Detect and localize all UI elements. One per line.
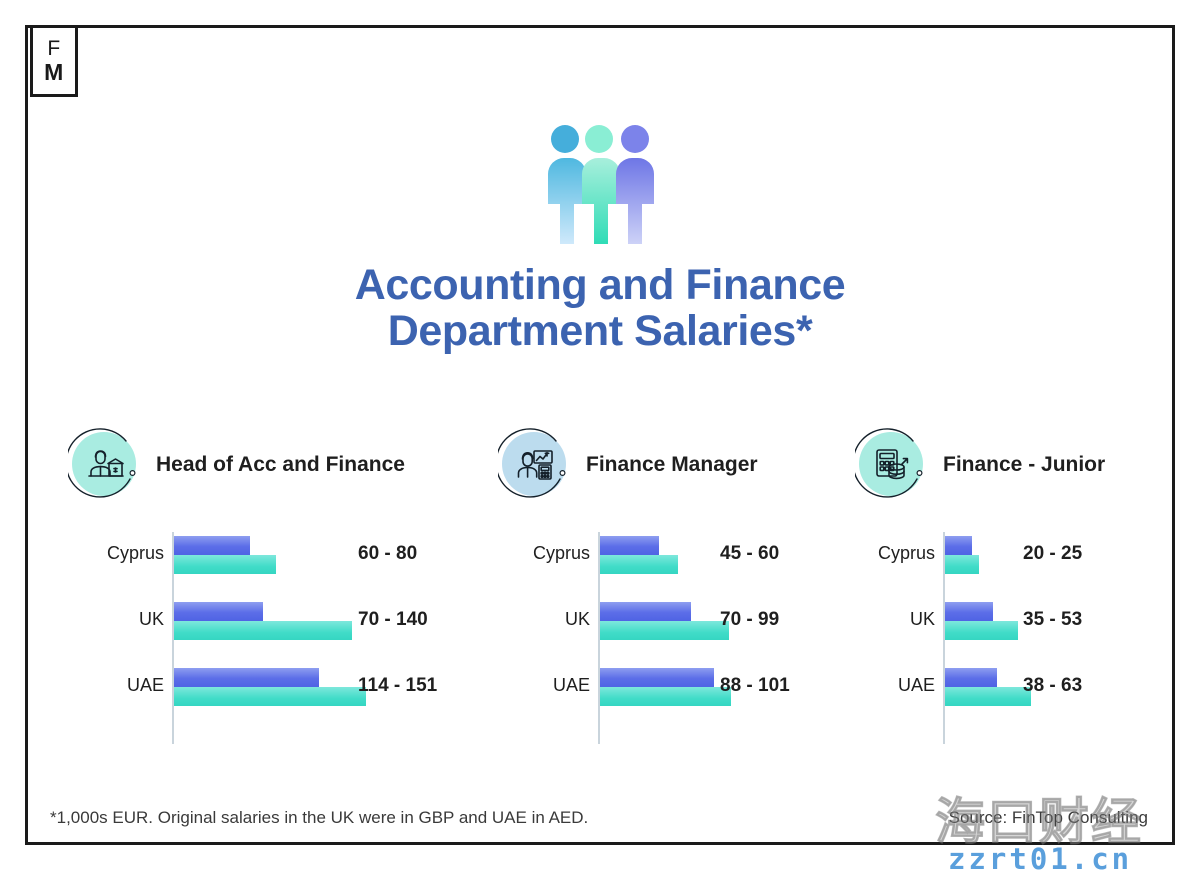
chart-row: UK70 - 99 [498,598,828,652]
bar-pair [600,602,729,640]
watermark-url: zzrt01.cn [948,842,1132,876]
bar-max [945,555,979,574]
range-value-label: 20 - 25 [1023,543,1082,565]
category-label: Cyprus [855,543,935,564]
bar-pair [600,668,731,706]
range-value-label: 38 - 63 [1023,675,1082,697]
bar-pair [174,668,366,706]
category-label: UAE [68,675,164,696]
chart-group-head-of-acc-and-finance: Head of Acc and FinanceCyprus60 - 80UK70… [68,428,468,730]
bar-max [945,687,1031,706]
bar-max [945,621,1018,640]
bar-max [174,621,352,640]
bar-max [174,687,366,706]
bar-pair [174,536,276,574]
category-label: Cyprus [498,543,590,564]
chart-row: Cyprus60 - 80 [68,532,468,586]
category-label: Cyprus [68,543,164,564]
banker-person-icon [68,428,142,502]
chart-row: UK35 - 53 [855,598,1185,652]
range-value-label: 70 - 140 [358,609,428,631]
range-value-label: 45 - 60 [720,543,779,565]
bar-chart: Cyprus45 - 60UK70 - 99UAE88 - 101 [498,532,828,718]
bar-min [600,602,691,621]
bar-max [600,555,678,574]
bar-min [600,668,714,687]
bar-chart: Cyprus60 - 80UK70 - 140UAE114 - 151 [68,532,468,718]
chart-title: Finance Manager [586,453,758,477]
chart-group-header: Finance - Junior [855,428,1185,502]
calculator-coins-icon [855,428,929,502]
chart-title: Head of Acc and Finance [156,453,405,477]
range-value-label: 35 - 53 [1023,609,1082,631]
analyst-chart-calculator-icon [498,428,572,502]
chart-row: UK70 - 140 [68,598,468,652]
range-value-label: 60 - 80 [358,543,417,565]
category-label: UK [68,609,164,630]
bar-pair [945,668,1031,706]
fm-logo-letter-f: F [47,38,60,60]
category-label: UK [855,609,935,630]
page-title: Accounting and Finance Department Salari… [0,262,1200,354]
bar-min [174,668,319,687]
bar-min [174,536,250,555]
range-value-label: 70 - 99 [720,609,779,631]
infographic-canvas: F M Accounting and [0,0,1200,878]
chart-group-finance-junior: Finance - JuniorCyprus20 - 25UK35 - 53UA… [855,428,1185,730]
bar-max [600,621,729,640]
chart-group-header: Finance Manager [498,428,828,502]
range-value-label: 88 - 101 [720,675,790,697]
bar-max [174,555,276,574]
category-label: UK [498,609,590,630]
bar-min [600,536,659,555]
fm-logo-letter-m: M [44,60,64,84]
fm-logo: F M [30,25,78,97]
source-credit: Source: FinTop Consulting [949,808,1148,828]
chart-group-finance-manager: Finance ManagerCyprus45 - 60UK70 - 99UAE… [498,428,828,730]
chart-row: UAE114 - 151 [68,664,468,718]
chart-row: Cyprus45 - 60 [498,532,828,586]
footnote: *1,000s EUR. Original salaries in the UK… [50,808,588,828]
category-label: UAE [498,675,590,696]
bar-chart: Cyprus20 - 25UK35 - 53UAE38 - 63 [855,532,1185,718]
bar-max [600,687,731,706]
bar-pair [174,602,352,640]
three-people-icon [540,122,660,254]
chart-group-header: Head of Acc and Finance [68,428,468,502]
bar-pair [600,536,678,574]
bar-min [945,536,972,555]
chart-row: Cyprus20 - 25 [855,532,1185,586]
page-title-line-1: Accounting and Finance [355,261,846,309]
bar-min [945,602,993,621]
bar-pair [945,602,1018,640]
bar-min [945,668,997,687]
chart-title: Finance - Junior [943,453,1105,477]
chart-row: UAE38 - 63 [855,664,1185,718]
bar-pair [945,536,979,574]
bar-min [174,602,263,621]
page-title-line-2: Department Salaries* [388,307,813,355]
chart-row: UAE88 - 101 [498,664,828,718]
category-label: UAE [855,675,935,696]
range-value-label: 114 - 151 [358,675,437,697]
